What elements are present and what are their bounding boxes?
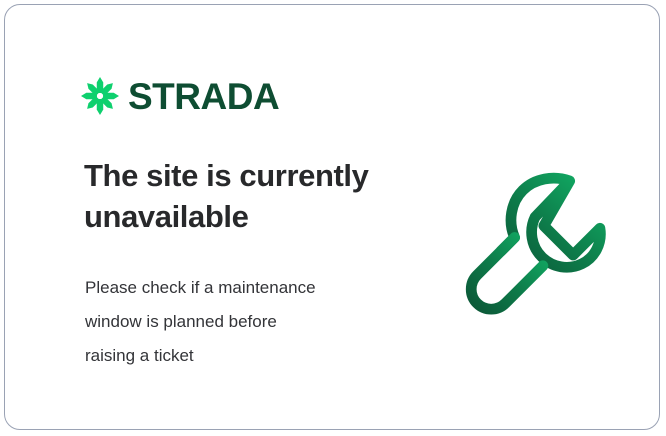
brand-wordmark: STRADA xyxy=(128,78,279,115)
error-page: STRADA The site is currently unavailable… xyxy=(0,0,666,436)
brand-lockup: STRADA xyxy=(81,75,279,117)
description-line: window is planned before xyxy=(85,305,385,339)
page-description: Please check if a maintenance window is … xyxy=(85,271,385,373)
description-line: raising a ticket xyxy=(85,339,385,373)
status-card: STRADA The site is currently unavailable… xyxy=(4,4,660,430)
wrench-icon xyxy=(460,160,616,316)
description-line: Please check if a maintenance xyxy=(85,271,385,305)
page-title: The site is currently unavailable xyxy=(84,155,414,237)
strada-asterisk-icon xyxy=(81,77,119,115)
